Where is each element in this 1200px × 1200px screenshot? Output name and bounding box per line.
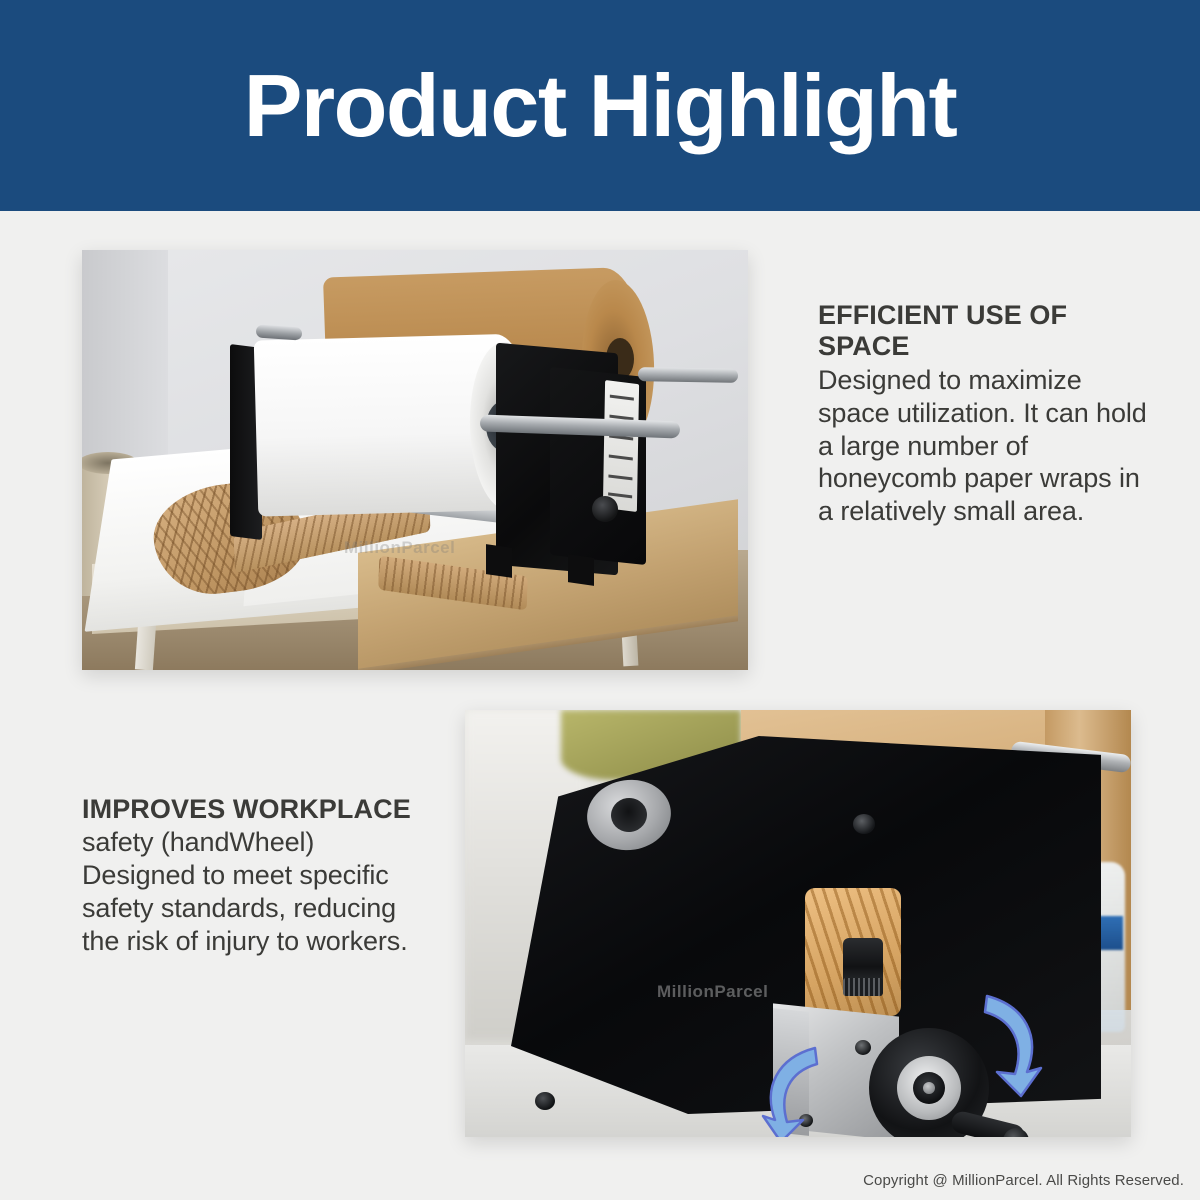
- feature-image-improves-workplace-safety: MillionParcel: [465, 710, 1131, 1137]
- feature-text-improves-workplace-safety: IMPROVES WORKPLACE safety (handWheel) De…: [82, 794, 412, 958]
- machine-screw-bottom-left: [535, 1092, 555, 1110]
- content-stage: MillionParcel EFFICIENT USE OF SPACE Des…: [0, 211, 1200, 1200]
- footer-copyright: Copyright @ MillionParcel. All Rights Re…: [863, 1172, 1184, 1189]
- photo-scene-machine: MillionParcel: [82, 250, 748, 670]
- feature-body: Designed to maximize space utilization. …: [818, 364, 1148, 529]
- machine-screw-top: [853, 814, 875, 834]
- feature-image-efficient-use-of-space: MillionParcel: [82, 250, 748, 670]
- rotation-arrow-left-icon: [755, 1036, 833, 1137]
- feature-body: safety (handWheel) Designed to meet spec…: [82, 826, 412, 958]
- feature-heading: IMPROVES WORKPLACE: [82, 794, 412, 825]
- machine-shaft-right: [638, 367, 738, 383]
- page-title: Product Highlight: [244, 62, 957, 150]
- machine-foot-right: [568, 554, 594, 586]
- machine-knob: [592, 496, 618, 522]
- machine-block-screw-top: [855, 1040, 871, 1055]
- feature-heading: EFFICIENT USE OF SPACE: [818, 300, 1148, 363]
- machine-instruction-label: [603, 380, 639, 512]
- machine-adjustment-knob-ridges: [843, 978, 883, 996]
- feature-text-efficient-use-of-space: EFFICIENT USE OF SPACE Designed to maxim…: [818, 300, 1148, 528]
- machine-foot-left: [486, 544, 512, 578]
- handwheel-bolt: [923, 1082, 935, 1094]
- photo-scene-handwheel: MillionParcel: [465, 710, 1131, 1137]
- header-banner: Product Highlight: [0, 0, 1200, 211]
